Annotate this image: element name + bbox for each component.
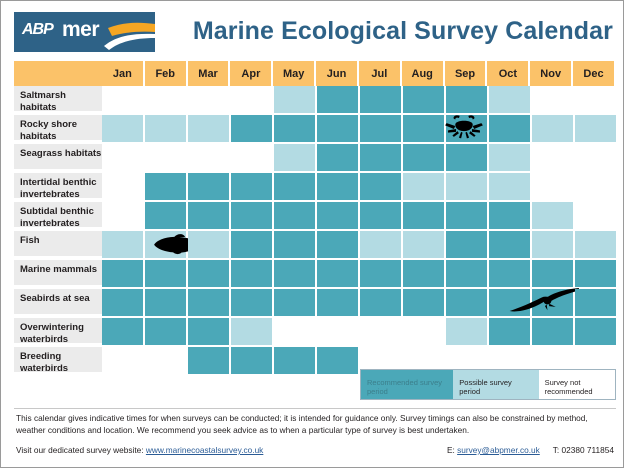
cell-jul-rec[interactable] — [360, 202, 403, 231]
cell-aug-rec[interactable] — [403, 260, 446, 289]
row-label-fish: Fish — [14, 231, 102, 258]
row-label-subtidal-benthic-invertebrates: Subtidal benthic invertebrates — [14, 202, 102, 229]
row-cells — [102, 318, 616, 347]
cell-sep-rec[interactable] — [446, 144, 489, 173]
cell-jun-rec[interactable] — [317, 173, 360, 202]
month-header-aug[interactable]: Aug — [402, 61, 445, 86]
cell-sep-rec[interactable] — [446, 231, 489, 260]
cell-oct-pos[interactable] — [489, 173, 532, 202]
row-cells — [102, 289, 616, 318]
row-label-rocky-shore-habitats: Rocky shore habitats — [14, 115, 102, 142]
footer-website-prefix: Visit our dedicated survey website: — [16, 445, 146, 455]
cell-apr-rec[interactable] — [231, 231, 274, 260]
cell-jan-rec[interactable] — [102, 260, 145, 289]
cell-nov-pos[interactable] — [532, 231, 575, 260]
cell-dec-not[interactable] — [575, 86, 616, 115]
row-cells — [102, 115, 616, 144]
cell-oct-rec[interactable] — [489, 115, 532, 144]
cell-aug-rec[interactable] — [403, 202, 446, 231]
month-header-jun[interactable]: Jun — [316, 61, 359, 86]
cell-aug-not[interactable] — [403, 318, 446, 347]
cell-oct-rec[interactable] — [489, 260, 532, 289]
row-label-breeding-waterbirds: Breeding waterbirds — [14, 347, 102, 374]
cell-jan-not[interactable] — [102, 86, 145, 115]
month-header-may[interactable]: May — [273, 61, 316, 86]
cell-jun-rec[interactable] — [317, 289, 360, 318]
cell-apr-rec[interactable] — [231, 260, 274, 289]
cell-dec-pos[interactable] — [575, 231, 616, 260]
cell-aug-pos[interactable] — [403, 231, 446, 260]
cell-nov-not[interactable] — [532, 144, 575, 173]
cell-nov-pos[interactable] — [532, 115, 575, 144]
month-header-sep[interactable]: Sep — [445, 61, 488, 86]
cell-aug-rec[interactable] — [403, 144, 446, 173]
cell-apr-not[interactable] — [231, 144, 274, 173]
cell-jan-rec[interactable] — [102, 289, 145, 318]
cell-jun-rec[interactable] — [317, 347, 360, 376]
cell-jan-not[interactable] — [102, 202, 145, 231]
survey-calendar-page: ABP mer Marine Ecological Survey Calenda… — [0, 0, 624, 468]
footer-disclaimer: This calendar gives indicative times for… — [16, 413, 614, 436]
cell-nov-rec[interactable] — [532, 260, 575, 289]
cell-apr-rec[interactable] — [231, 115, 274, 144]
cell-sep-rec[interactable] — [446, 202, 489, 231]
cell-nov-rec[interactable] — [532, 289, 575, 318]
cell-nov-rec[interactable] — [532, 318, 575, 347]
cell-nov-not[interactable] — [532, 173, 575, 202]
row-label-seagrass-habitats: Seagrass habitats — [14, 144, 102, 171]
table-row: Intertidal benthic invertebrates — [14, 173, 616, 202]
cell-feb-pos[interactable] — [145, 115, 188, 144]
page-header: ABP mer Marine Ecological Survey Calenda… — [1, 1, 624, 59]
cell-sep-rec[interactable] — [446, 289, 489, 318]
row-label-saltmarsh-habitats: Saltmarsh habitats — [14, 86, 102, 113]
cell-may-rec[interactable] — [274, 347, 317, 376]
cell-jul-rec[interactable] — [360, 144, 403, 173]
cell-jul-rec[interactable] — [360, 260, 403, 289]
footer-email-line: E: survey@abpmer.co.uk — [447, 445, 540, 455]
cell-jul-pos[interactable] — [360, 231, 403, 260]
footer-website-line: Visit our dedicated survey website: www.… — [16, 445, 263, 455]
cell-jan-not[interactable] — [102, 173, 145, 202]
footer-divider — [14, 408, 616, 409]
cell-dec-pos[interactable] — [575, 115, 616, 144]
cell-jan-not[interactable] — [102, 144, 145, 173]
row-cells — [102, 231, 616, 260]
cell-mar-not[interactable] — [188, 144, 231, 173]
row-cells — [102, 173, 616, 202]
cell-jul-not[interactable] — [360, 318, 403, 347]
table-row: Overwintering waterbirds — [14, 318, 616, 347]
cell-dec-not[interactable] — [575, 144, 616, 173]
cell-mar-rec[interactable] — [188, 260, 231, 289]
footer-phone: T: 02380 711854 — [553, 445, 614, 455]
month-header-dec[interactable]: Dec — [573, 61, 616, 86]
legend-possible: Possible survey period — [453, 370, 538, 399]
legend-recommended: Recommended survey period — [361, 370, 453, 399]
cell-nov-not[interactable] — [532, 86, 575, 115]
cell-mar-rec[interactable] — [188, 202, 231, 231]
cell-may-rec[interactable] — [274, 202, 317, 231]
cell-feb-pos[interactable] — [145, 231, 188, 260]
cell-feb-not[interactable] — [145, 86, 188, 115]
cell-jan-pos[interactable] — [102, 231, 145, 260]
cell-oct-rec[interactable] — [489, 289, 532, 318]
calendar-legend: Recommended survey period Possible surve… — [360, 369, 616, 400]
footer-contact: E: survey@abpmer.co.uk T: 02380 711854 — [447, 445, 614, 455]
row-cells — [102, 144, 616, 173]
month-header-cells: JanFebMarAprMayJunJulAugSepOctNovDec — [102, 61, 616, 86]
table-row: Fish — [14, 231, 616, 260]
crab-icon — [442, 113, 486, 142]
row-cells — [102, 260, 616, 289]
cell-mar-rec[interactable] — [188, 347, 231, 376]
cell-sep-rec[interactable] — [446, 115, 489, 144]
cell-jun-rec[interactable] — [317, 231, 360, 260]
cell-dec-not[interactable] — [575, 173, 616, 202]
cell-dec-rec[interactable] — [575, 289, 616, 318]
cell-may-rec[interactable] — [274, 289, 317, 318]
cell-may-pos[interactable] — [274, 86, 317, 115]
cell-jun-not[interactable] — [317, 318, 360, 347]
legend-not-recommended: Survey not recommended — [539, 370, 615, 399]
cell-mar-pos[interactable] — [188, 115, 231, 144]
row-cells — [102, 202, 616, 231]
cell-apr-rec[interactable] — [231, 289, 274, 318]
month-header-jul[interactable]: Jul — [359, 61, 402, 86]
cell-oct-pos[interactable] — [489, 86, 532, 115]
month-header-apr[interactable]: Apr — [230, 61, 273, 86]
grid-corner-cell — [14, 61, 102, 86]
footer-email-prefix: E: — [447, 445, 457, 455]
cell-feb-not[interactable] — [145, 144, 188, 173]
cell-apr-rec[interactable] — [231, 347, 274, 376]
cell-feb-rec[interactable] — [145, 173, 188, 202]
calendar-grid: JanFebMarAprMayJunJulAugSepOctNovDec Sal… — [14, 61, 616, 376]
cell-dec-rec[interactable] — [575, 318, 616, 347]
table-row: Seabirds at sea — [14, 289, 616, 318]
cell-oct-pos[interactable] — [489, 144, 532, 173]
cell-mar-pos[interactable] — [188, 231, 231, 260]
cell-feb-not[interactable] — [145, 347, 188, 376]
cell-feb-rec[interactable] — [145, 202, 188, 231]
cell-oct-rec[interactable] — [489, 318, 532, 347]
cell-jan-not[interactable] — [102, 347, 145, 376]
cell-jun-rec[interactable] — [317, 202, 360, 231]
cell-dec-rec[interactable] — [575, 260, 616, 289]
cell-may-rec[interactable] — [274, 115, 317, 144]
month-header-nov[interactable]: Nov — [530, 61, 573, 86]
cell-apr-not[interactable] — [231, 86, 274, 115]
survey-email-link[interactable]: survey@abpmer.co.uk — [457, 445, 540, 455]
cell-jan-pos[interactable] — [102, 115, 145, 144]
calendar-header-row: JanFebMarAprMayJunJulAugSepOctNovDec — [14, 61, 616, 86]
table-row: Subtidal benthic invertebrates — [14, 202, 616, 231]
cell-aug-rec[interactable] — [403, 115, 446, 144]
row-label-overwintering-waterbirds: Overwintering waterbirds — [14, 318, 102, 345]
cell-may-rec[interactable] — [274, 173, 317, 202]
table-row: Rocky shore habitats — [14, 115, 616, 144]
cell-mar-rec[interactable] — [188, 173, 231, 202]
cell-feb-rec[interactable] — [145, 289, 188, 318]
cell-jun-rec[interactable] — [317, 86, 360, 115]
table-row: Saltmarsh habitats — [14, 86, 616, 115]
cell-sep-pos[interactable] — [446, 173, 489, 202]
cell-sep-pos[interactable] — [446, 318, 489, 347]
cell-sep-rec[interactable] — [446, 260, 489, 289]
cell-may-rec[interactable] — [274, 231, 317, 260]
cell-jul-rec[interactable] — [360, 289, 403, 318]
cell-jul-rec[interactable] — [360, 86, 403, 115]
cell-aug-rec[interactable] — [403, 289, 446, 318]
month-header-feb[interactable]: Feb — [145, 61, 188, 86]
cell-mar-rec[interactable] — [188, 289, 231, 318]
cell-apr-rec[interactable] — [231, 173, 274, 202]
month-header-jan[interactable]: Jan — [102, 61, 145, 86]
cell-feb-rec[interactable] — [145, 318, 188, 347]
calendar-body: Saltmarsh habitatsRocky shore habitatsSe… — [14, 86, 616, 376]
table-row: Seagrass habitats — [14, 144, 616, 173]
cell-jul-rec[interactable] — [360, 173, 403, 202]
cell-jun-rec[interactable] — [317, 115, 360, 144]
cell-jun-rec[interactable] — [317, 260, 360, 289]
cell-apr-pos[interactable] — [231, 318, 274, 347]
cell-aug-rec[interactable] — [403, 86, 446, 115]
cell-jan-rec[interactable] — [102, 318, 145, 347]
table-row: Marine mammals — [14, 260, 616, 289]
cell-apr-rec[interactable] — [231, 202, 274, 231]
row-label-marine-mammals: Marine mammals — [14, 260, 102, 287]
month-header-oct[interactable]: Oct — [487, 61, 530, 86]
cell-may-not[interactable] — [274, 318, 317, 347]
cell-oct-rec[interactable] — [489, 231, 532, 260]
page-title: Marine Ecological Survey Calendar — [1, 17, 613, 46]
cell-mar-rec[interactable] — [188, 318, 231, 347]
cell-sep-rec[interactable] — [446, 86, 489, 115]
cell-jun-rec[interactable] — [317, 144, 360, 173]
cell-may-rec[interactable] — [274, 260, 317, 289]
survey-website-link[interactable]: www.marinecoastalsurvey.co.uk — [146, 445, 263, 455]
cell-oct-rec[interactable] — [489, 202, 532, 231]
cell-mar-not[interactable] — [188, 86, 231, 115]
row-label-intertidal-benthic-invertebrates: Intertidal benthic invertebrates — [14, 173, 102, 200]
row-label-seabirds-at-sea: Seabirds at sea — [14, 289, 102, 316]
cell-feb-rec[interactable] — [145, 260, 188, 289]
cell-nov-pos[interactable] — [532, 202, 575, 231]
month-header-mar[interactable]: Mar — [188, 61, 231, 86]
cell-jul-rec[interactable] — [360, 115, 403, 144]
row-cells — [102, 86, 616, 115]
cell-dec-not[interactable] — [575, 202, 616, 231]
footer-links: Visit our dedicated survey website: www.… — [16, 445, 614, 455]
cell-aug-pos[interactable] — [403, 173, 446, 202]
cell-may-pos[interactable] — [274, 144, 317, 173]
